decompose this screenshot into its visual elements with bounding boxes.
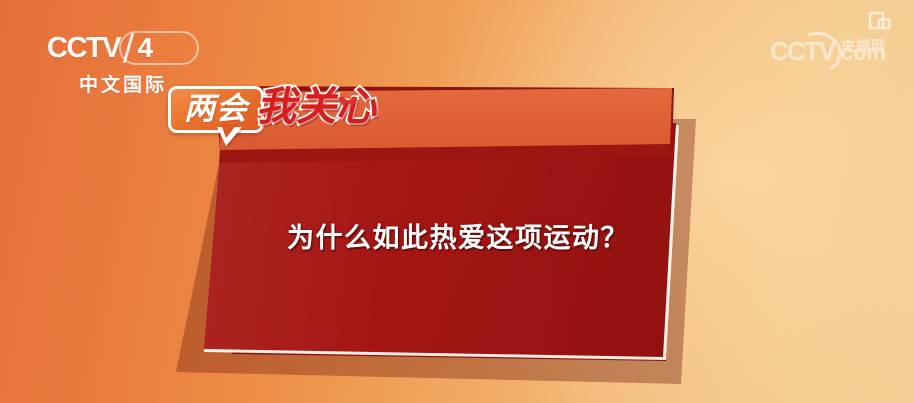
heart-icon xyxy=(343,95,354,105)
cctv-com-watermark: 央视网 CCTV.com xyxy=(770,38,886,64)
cctv-channel-number: 4 xyxy=(137,34,153,62)
cctv-channel-logo: CCTV 4 中文国际 xyxy=(47,33,199,91)
title-slogan-text: 我关心 xyxy=(256,87,376,127)
background-glow xyxy=(414,0,914,403)
broadcast-screen: CCTV 4 中文国际 央视网 CCTV.com 两会 xyxy=(0,0,914,403)
speech-bubble-tail xyxy=(217,127,242,146)
watermark-brand-text: CCTV xyxy=(770,36,835,66)
watermark-cn-label: 央视网 xyxy=(841,36,886,56)
panel-drop-shadow xyxy=(136,114,736,403)
title-speech-bubble: 两会 xyxy=(168,86,264,133)
watermark-arc xyxy=(791,26,847,78)
picture-in-picture-icon[interactable] xyxy=(868,11,892,30)
watermark-suffix: .com xyxy=(835,40,886,65)
cctv-divider-slash xyxy=(123,33,134,63)
cctv-logo-row: CCTV 4 xyxy=(47,33,199,63)
title-slogan: 我关心 xyxy=(256,87,376,127)
title-badge-text: 两会 xyxy=(184,93,248,125)
program-title: 两会 我关心 xyxy=(168,86,376,146)
cctv-wordmark: CCTV xyxy=(47,34,120,63)
question-text: 为什么如此热爱这项运动？ xyxy=(287,216,629,255)
watermark-brand: CCTV.com xyxy=(770,38,886,64)
